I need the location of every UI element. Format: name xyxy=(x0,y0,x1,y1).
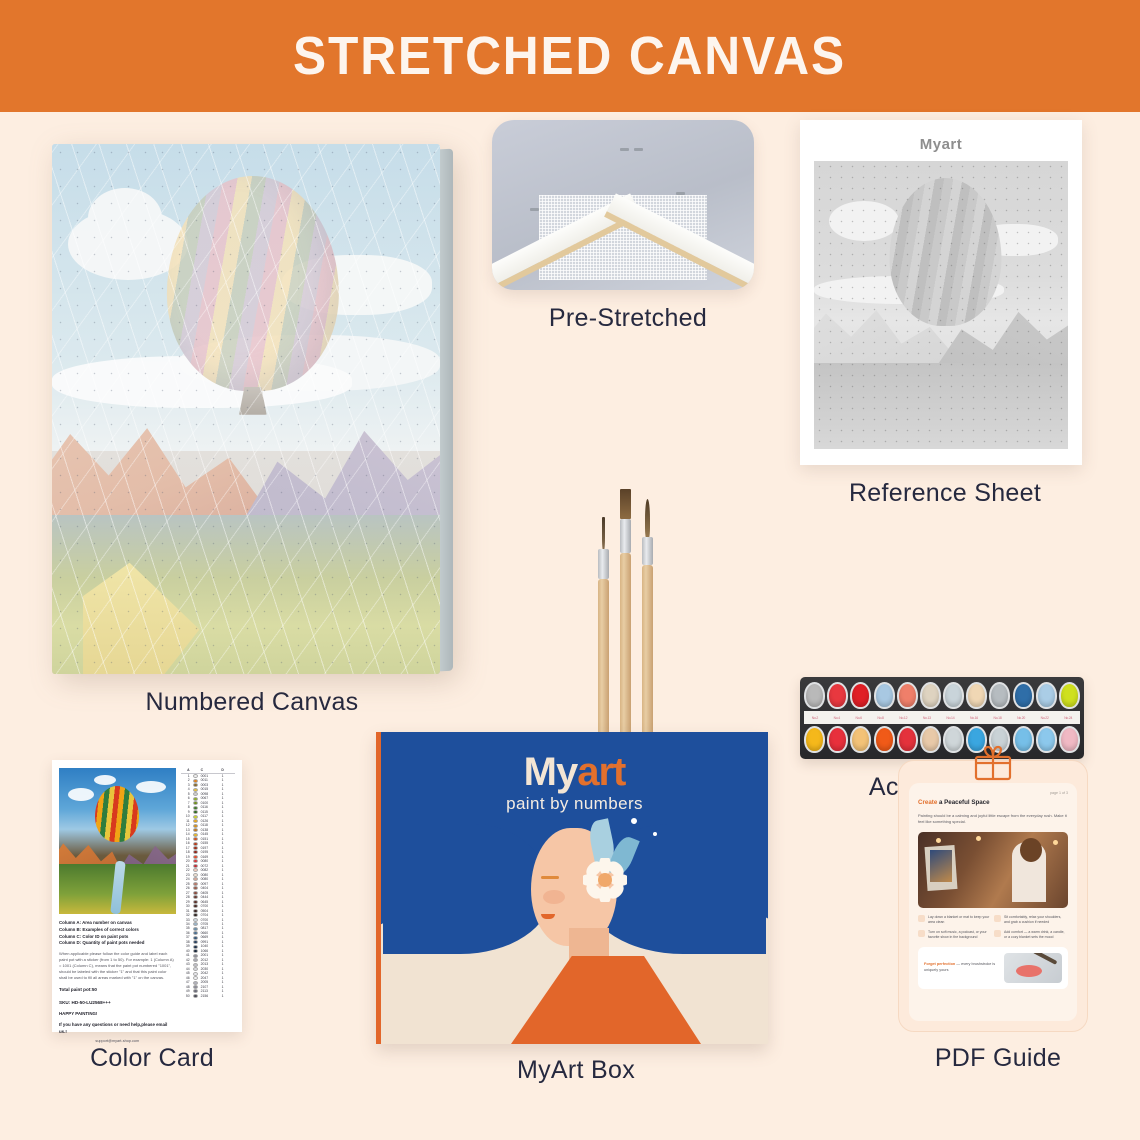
color-card-paper: Column A: Area number on canvas Column B… xyxy=(52,760,242,1032)
color-card-artwork xyxy=(59,768,176,914)
pdf-tip-item: Lay down a blanket or mat to keep your a… xyxy=(918,915,990,925)
product-pre-stretched[interactable]: Pre-Stretched xyxy=(492,120,764,333)
brush-flat xyxy=(620,489,631,767)
cell-color-swatch xyxy=(193,936,198,940)
paint-number-dots xyxy=(814,161,1068,449)
paint-pot[interactable] xyxy=(827,726,848,753)
paint-pot-label: No.6 xyxy=(856,716,862,720)
paint-pot-label: No.8 xyxy=(877,716,883,720)
brush-round xyxy=(642,499,653,767)
logo-my: My xyxy=(524,750,578,794)
cell-color-swatch xyxy=(193,819,198,823)
support-email: support@myart-shop.com xyxy=(59,1039,176,1043)
hot-air-balloon-icon xyxy=(95,786,139,842)
help-text: If you have any questions or need help,p… xyxy=(59,1021,176,1035)
tip-text: Sit comfortably, relax your shoulders, a… xyxy=(1004,915,1066,925)
cell-color-swatch xyxy=(193,900,198,904)
daisy-flower-icon xyxy=(583,858,627,902)
tip-icon xyxy=(918,915,925,922)
tip-icon xyxy=(918,930,925,937)
label-pre-stretched: Pre-Stretched xyxy=(492,304,764,333)
paint-pot[interactable] xyxy=(827,682,848,709)
paint-pot[interactable] xyxy=(874,726,895,753)
cell-color-swatch xyxy=(193,963,198,967)
paint-pot[interactable] xyxy=(850,682,871,709)
pdf-tip-item: Turn on soft music, a podcast, or your f… xyxy=(918,930,990,940)
paint-pot[interactable] xyxy=(897,726,918,753)
paint-pot[interactable] xyxy=(804,682,825,709)
pdf-subtitle: Painting should be a calming and joyful … xyxy=(918,813,1068,826)
paint-pot[interactable] xyxy=(1036,726,1057,753)
color-card-instructions: Column A: Area number on canvas Column B… xyxy=(59,920,176,1043)
paint-row-bottom xyxy=(804,726,1080,753)
paint-pot[interactable] xyxy=(1059,682,1080,709)
cell-area-number: 50 xyxy=(181,994,190,998)
legend-col-c: Column C: Color ID on paint pots xyxy=(59,934,176,941)
cell-color-swatch xyxy=(193,940,198,944)
cell-color-swatch xyxy=(193,842,198,846)
sku-code: SKU: HD-50-LU2568+++ xyxy=(59,999,176,1006)
pdf-guide-card: page 1 of 3 Create a Peaceful Space Pain… xyxy=(898,760,1088,1032)
cell-color-swatch xyxy=(193,837,198,841)
pdf-title: Create a Peaceful Space xyxy=(918,799,990,806)
paint-pot[interactable] xyxy=(920,726,941,753)
pdf-title-rest: a Peaceful Space xyxy=(937,799,989,806)
product-numbered-canvas[interactable]: Numbered Canvas xyxy=(52,144,452,717)
cell-color-swatch xyxy=(193,981,198,985)
pdf-tip-item: Sit comfortably, relax your shoulders, a… xyxy=(994,915,1066,925)
pdf-title-accent: Create xyxy=(918,799,937,806)
cell-color-swatch xyxy=(193,864,198,868)
product-reference-sheet[interactable]: Myart Reference Sheet xyxy=(800,120,1090,508)
cell-color-swatch xyxy=(193,976,198,980)
paint-pot-label: No.14 xyxy=(946,716,954,720)
cell-color-swatch xyxy=(193,833,198,837)
paint-pot[interactable] xyxy=(804,726,825,753)
sparkle-dot xyxy=(653,832,657,836)
paint-pot[interactable] xyxy=(874,682,895,709)
paint-pot[interactable] xyxy=(1036,682,1057,709)
page-title: STRETCHED CANVAS xyxy=(294,25,847,87)
cell-color-swatch xyxy=(193,801,198,805)
label-reference-sheet: Reference Sheet xyxy=(800,479,1090,508)
page-header: STRETCHED CANVAS xyxy=(0,0,1140,112)
paint-pot[interactable] xyxy=(1059,726,1080,753)
cell-color-swatch xyxy=(193,949,198,953)
canvas-image xyxy=(52,144,440,674)
paint-pot[interactable] xyxy=(943,682,964,709)
paint-pot-label: No.18 xyxy=(994,716,1002,720)
myart-box-image: Myart paint by numbers xyxy=(376,732,768,1044)
cell-color-swatch xyxy=(193,954,198,958)
cell-color-swatch xyxy=(193,792,198,796)
col-head-d: D xyxy=(220,768,226,772)
cell-color-swatch xyxy=(193,994,198,998)
cell-color-swatch xyxy=(193,783,198,787)
pdf-header-row: page 1 of 3 Create a Peaceful Space xyxy=(918,791,1068,809)
cell-color-swatch xyxy=(193,909,198,913)
cell-color-swatch xyxy=(193,855,198,859)
cell-color-swatch xyxy=(193,806,198,810)
paint-pot-label: No.4 xyxy=(834,716,840,720)
cell-color-swatch xyxy=(193,922,198,926)
brush-fine-liner xyxy=(598,517,609,767)
paint-number-dots xyxy=(52,144,440,674)
paint-pot-label: No.20 xyxy=(1017,716,1025,720)
staple-icon xyxy=(634,148,643,151)
pdf-note-text: Forget perfection — every brushstroke is… xyxy=(924,962,999,973)
instructions-body: When applicable please follow the color … xyxy=(59,951,176,981)
pdf-note: Forget perfection — every brushstroke is… xyxy=(918,947,1068,989)
cell-color-swatch xyxy=(193,945,198,949)
product-color-card[interactable]: Column A: Area number on canvas Column B… xyxy=(52,760,252,1073)
box-tagline: paint by numbers xyxy=(381,794,768,814)
happy-painting-text: HAPPY PAINTING! xyxy=(59,1010,176,1017)
cell-color-swatch xyxy=(193,846,198,850)
cell-color-swatch xyxy=(193,788,198,792)
paint-pot[interactable] xyxy=(897,682,918,709)
pdf-note-image xyxy=(1004,953,1062,983)
color-card-left-column: Column A: Area number on canvas Column B… xyxy=(59,768,176,1024)
pre-stretched-photo xyxy=(492,120,754,290)
col-head-c: C xyxy=(201,768,217,772)
label-myart-box: MyArt Box xyxy=(376,1056,776,1085)
cell-color-swatch xyxy=(193,891,198,895)
product-myart-box[interactable]: Myart paint by numbers MyArt Box xyxy=(376,732,776,1085)
cell-color-swatch xyxy=(193,828,198,832)
cell-color-swatch xyxy=(193,913,198,917)
staple-icon xyxy=(530,208,539,211)
cell-color-swatch xyxy=(193,873,198,877)
cell-color-swatch xyxy=(193,972,198,976)
gift-icon xyxy=(972,743,1014,788)
sparkle-dot xyxy=(631,818,637,824)
tip-text: Turn on soft music, a podcast, or your f… xyxy=(928,930,990,940)
reference-sheet-paper: Myart xyxy=(800,120,1082,465)
canvas-artwork xyxy=(52,144,440,674)
legend-col-d: Column D: Quantity of paint pots needed xyxy=(59,940,176,947)
paint-pot-label: No.2 xyxy=(812,716,818,720)
label-numbered-canvas: Numbered Canvas xyxy=(52,688,452,717)
paint-pot[interactable] xyxy=(989,682,1010,709)
cell-color-swatch xyxy=(193,985,198,989)
cell-quantity: 1 xyxy=(220,994,226,998)
reference-artwork-grayscale xyxy=(814,161,1068,449)
col-head-a: A xyxy=(181,768,190,772)
col-head-b xyxy=(193,768,198,772)
pdf-page-content: page 1 of 3 Create a Peaceful Space Pain… xyxy=(909,783,1077,1021)
pdf-photo xyxy=(918,832,1068,908)
paint-pot[interactable] xyxy=(850,726,871,753)
cell-color-swatch xyxy=(193,927,198,931)
cell-color-swatch xyxy=(193,918,198,922)
staple-icon xyxy=(676,192,685,195)
pdf-tip-item: Add comfort — a warm drink, a candle, or… xyxy=(994,930,1066,940)
cell-color-swatch xyxy=(193,797,198,801)
cell-color-swatch xyxy=(193,882,198,886)
myart-logo-grayscale: Myart xyxy=(814,136,1068,153)
pdf-page-number: page 1 of 3 xyxy=(1050,791,1068,795)
paint-row-top xyxy=(804,682,1080,709)
label-color-card: Color Card xyxy=(52,1044,252,1073)
paint-pot-label: No.13 xyxy=(923,716,931,720)
paint-pot[interactable] xyxy=(1013,682,1034,709)
color-legend-table: A C D 1000112001113000314001515009816006… xyxy=(181,768,235,1024)
paint-pot[interactable] xyxy=(1013,726,1034,753)
product-pdf-guide[interactable]: page 1 of 3 Create a Peaceful Space Pain… xyxy=(898,760,1098,1073)
logo-art: art xyxy=(577,750,625,794)
paint-pot-label: No.16 xyxy=(970,716,978,720)
tip-icon xyxy=(994,915,1001,922)
product-grid: Numbered Canvas Pre-Stretched Myart xyxy=(0,112,1140,1140)
cell-color-swatch xyxy=(193,904,198,908)
canvas-wrapped-edge xyxy=(439,149,453,672)
cell-color-id: 2156 xyxy=(201,994,217,998)
pdf-note-accent: Forget perfection xyxy=(924,962,955,966)
table-row: 5021561 xyxy=(181,994,235,998)
staple-icon xyxy=(620,148,629,151)
paint-pot[interactable] xyxy=(920,682,941,709)
myart-logo: Myart xyxy=(381,750,768,795)
cell-color-swatch xyxy=(193,810,198,814)
cell-color-swatch xyxy=(193,824,198,828)
cell-color-swatch xyxy=(193,967,198,971)
paint-pot[interactable] xyxy=(966,682,987,709)
total-paint-pots: Total paint pot:50 xyxy=(59,986,176,993)
tip-text: Lay down a blanket or mat to keep your a… xyxy=(928,915,990,925)
cell-color-swatch xyxy=(193,931,198,935)
paint-pot-label: No.24 xyxy=(1064,716,1072,720)
paint-pot[interactable] xyxy=(943,726,964,753)
tip-text: Add comfort — a warm drink, a candle, or… xyxy=(1004,930,1066,940)
hair-left xyxy=(383,824,551,954)
pdf-tip-list: Lay down a blanket or mat to keep your a… xyxy=(918,915,1068,940)
tip-icon xyxy=(994,930,1001,937)
cell-color-swatch xyxy=(193,958,198,962)
legend-col-b: Column B: Examples of correct colors xyxy=(59,927,176,934)
legend-col-a: Column A: Area number on canvas xyxy=(59,920,176,927)
cell-color-swatch xyxy=(193,815,198,819)
paint-label-strip: No.2No.4No.6No.8No.12No.13No.14No.16No.1… xyxy=(804,711,1080,724)
cell-color-swatch xyxy=(193,779,198,783)
brush-set xyxy=(500,477,756,767)
paint-tray: No.2No.4No.6No.8No.12No.13No.14No.16No.1… xyxy=(800,677,1084,759)
paint-pot-label: No.22 xyxy=(1041,716,1049,720)
label-pdf-guide: PDF Guide xyxy=(898,1044,1098,1073)
cell-color-swatch xyxy=(193,774,198,778)
paint-pot-label: No.12 xyxy=(899,716,907,720)
